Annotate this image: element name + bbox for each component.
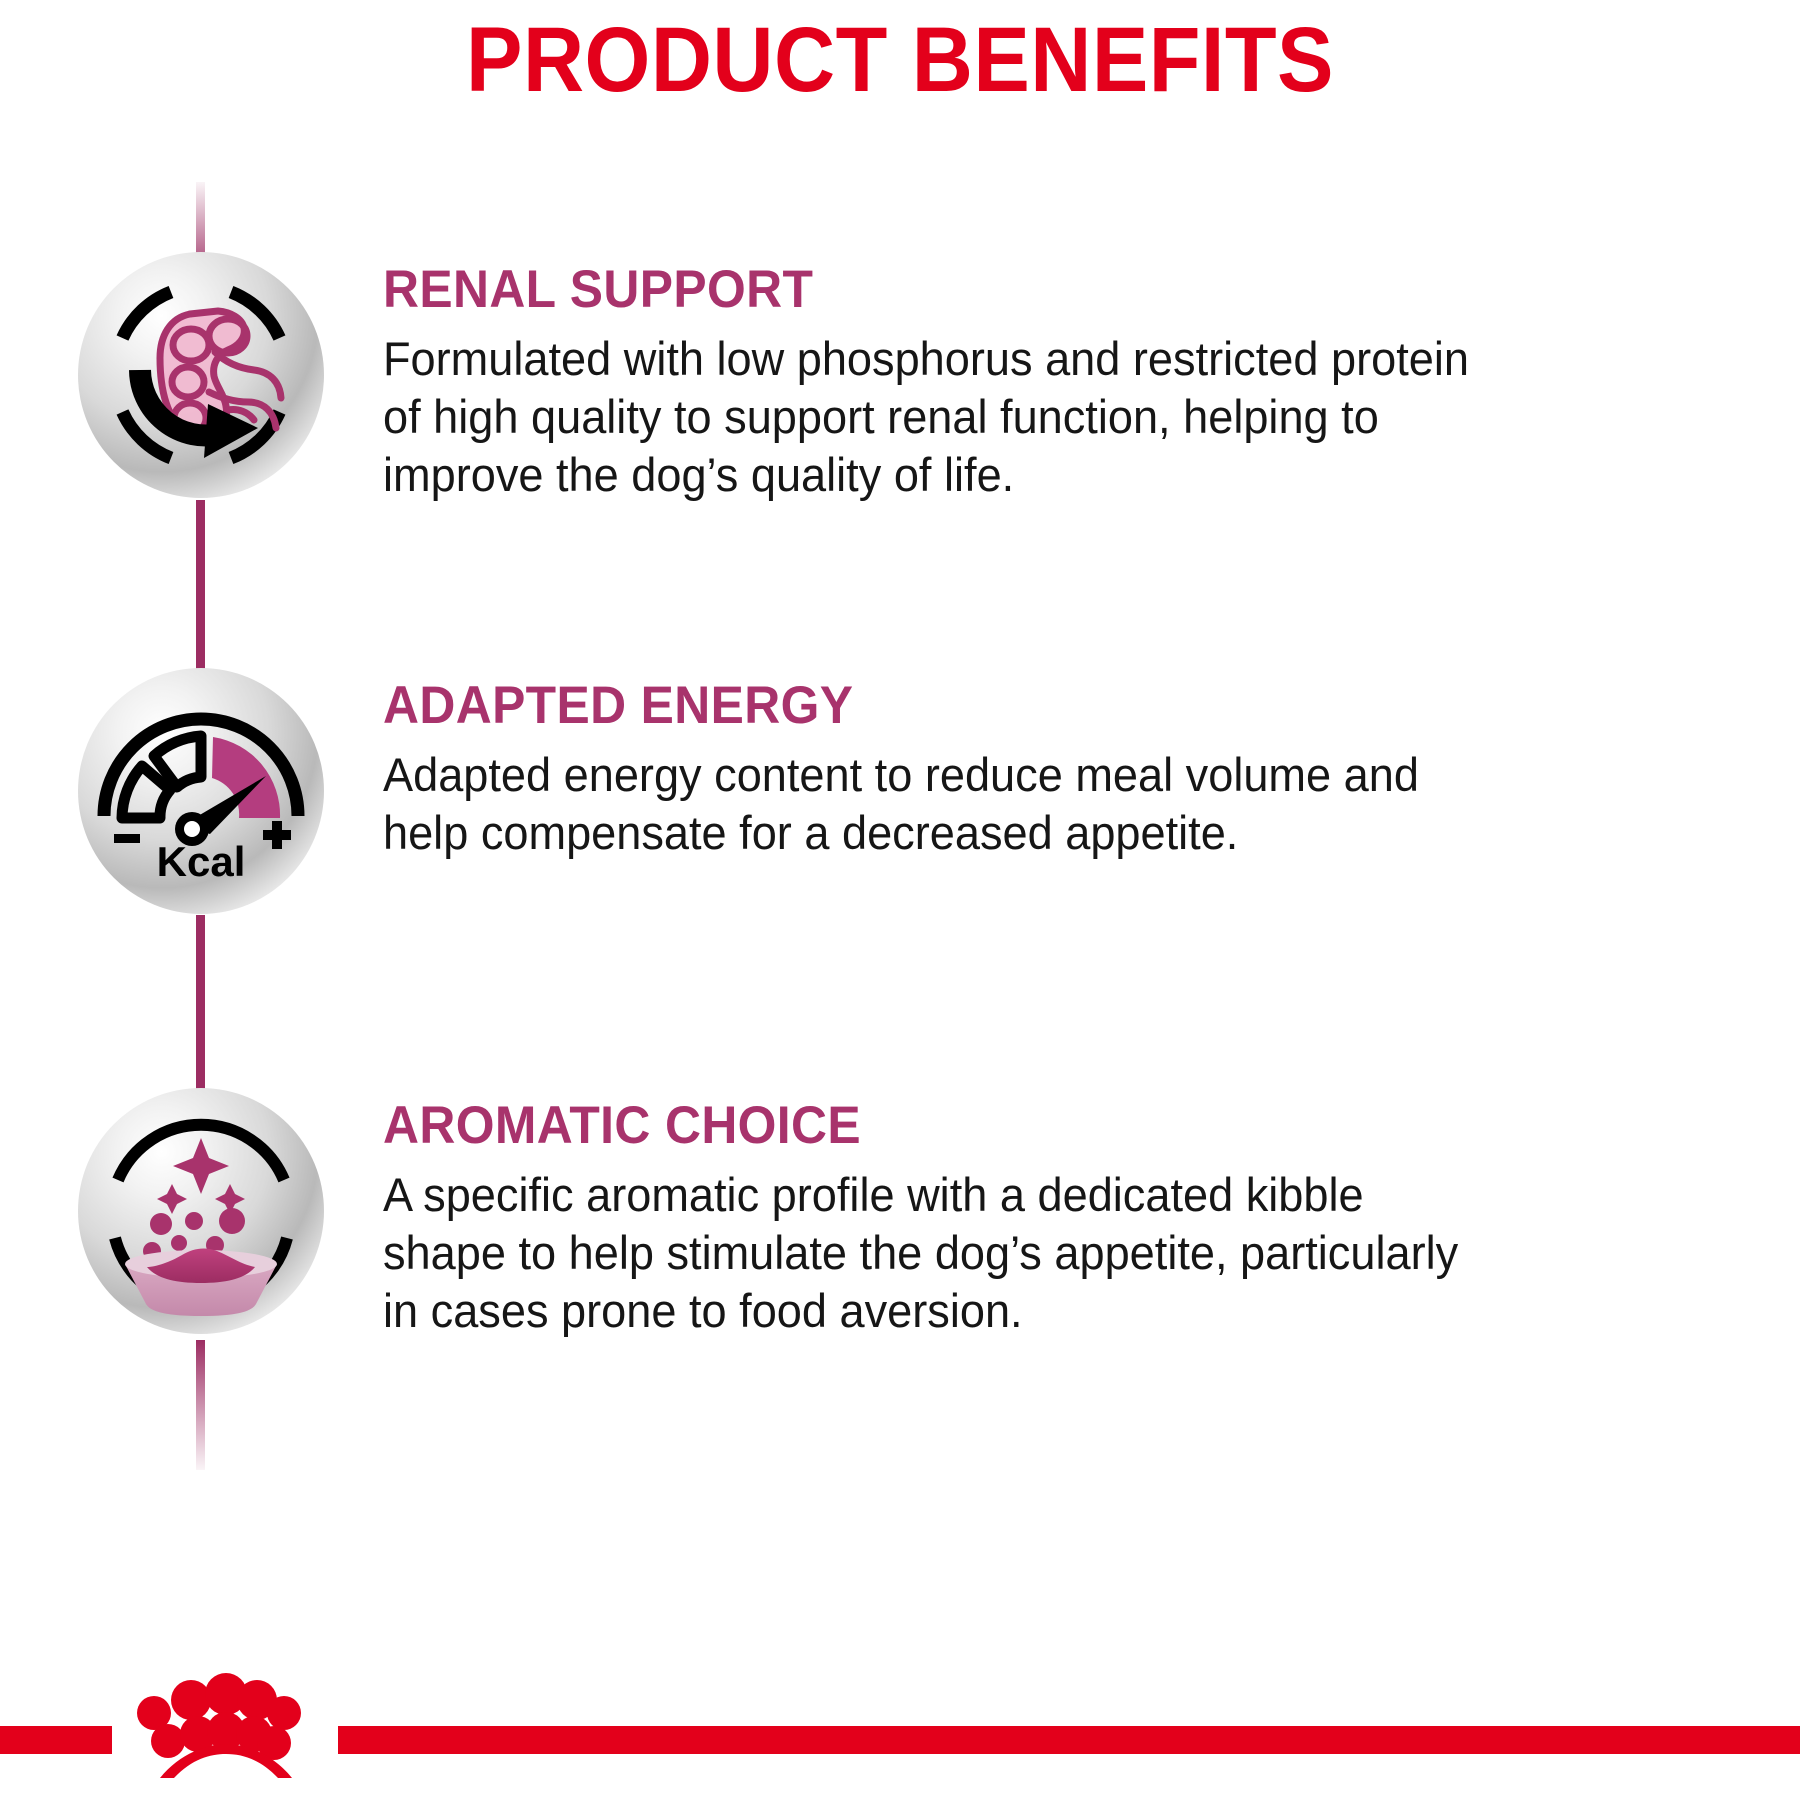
- benefit-copy: RENAL SUPPORT Formulated with low phosph…: [383, 260, 1800, 504]
- page-title: PRODUCT BENEFITS: [72, 8, 1728, 112]
- benefit-body: A specific aromatic profile with a dedic…: [383, 1166, 1756, 1340]
- footer-bar-left: [0, 1726, 112, 1754]
- benefit-body: Formulated with low phosphorus and restr…: [383, 330, 1756, 504]
- benefit-title: RENAL SUPPORT: [383, 260, 1727, 320]
- kidney-icon: [78, 252, 324, 498]
- benefit-copy: AROMATIC CHOICE A specific aromatic prof…: [383, 1096, 1800, 1340]
- product-benefits-page: PRODUCT BENEFITS: [0, 0, 1800, 1800]
- benefit-title: ADAPTED ENERGY: [383, 676, 1727, 736]
- benefit-copy: ADAPTED ENERGY Adapted energy content to…: [383, 676, 1800, 862]
- connector-rail-bottom: [196, 1340, 205, 1470]
- benefit-title: AROMATIC CHOICE: [383, 1096, 1727, 1156]
- footer-bar-right: [338, 1726, 1800, 1754]
- kcal-label: Kcal: [157, 838, 246, 885]
- royal-canin-crown-logo: [108, 1656, 344, 1782]
- benefit-body: Adapted energy content to reduce meal vo…: [383, 746, 1756, 862]
- kcal-gauge-icon: Kcal: [78, 668, 324, 914]
- connector-rail-2-3: [196, 915, 205, 1115]
- footer: [0, 1600, 1800, 1800]
- aroma-bowl-icon: [78, 1088, 324, 1334]
